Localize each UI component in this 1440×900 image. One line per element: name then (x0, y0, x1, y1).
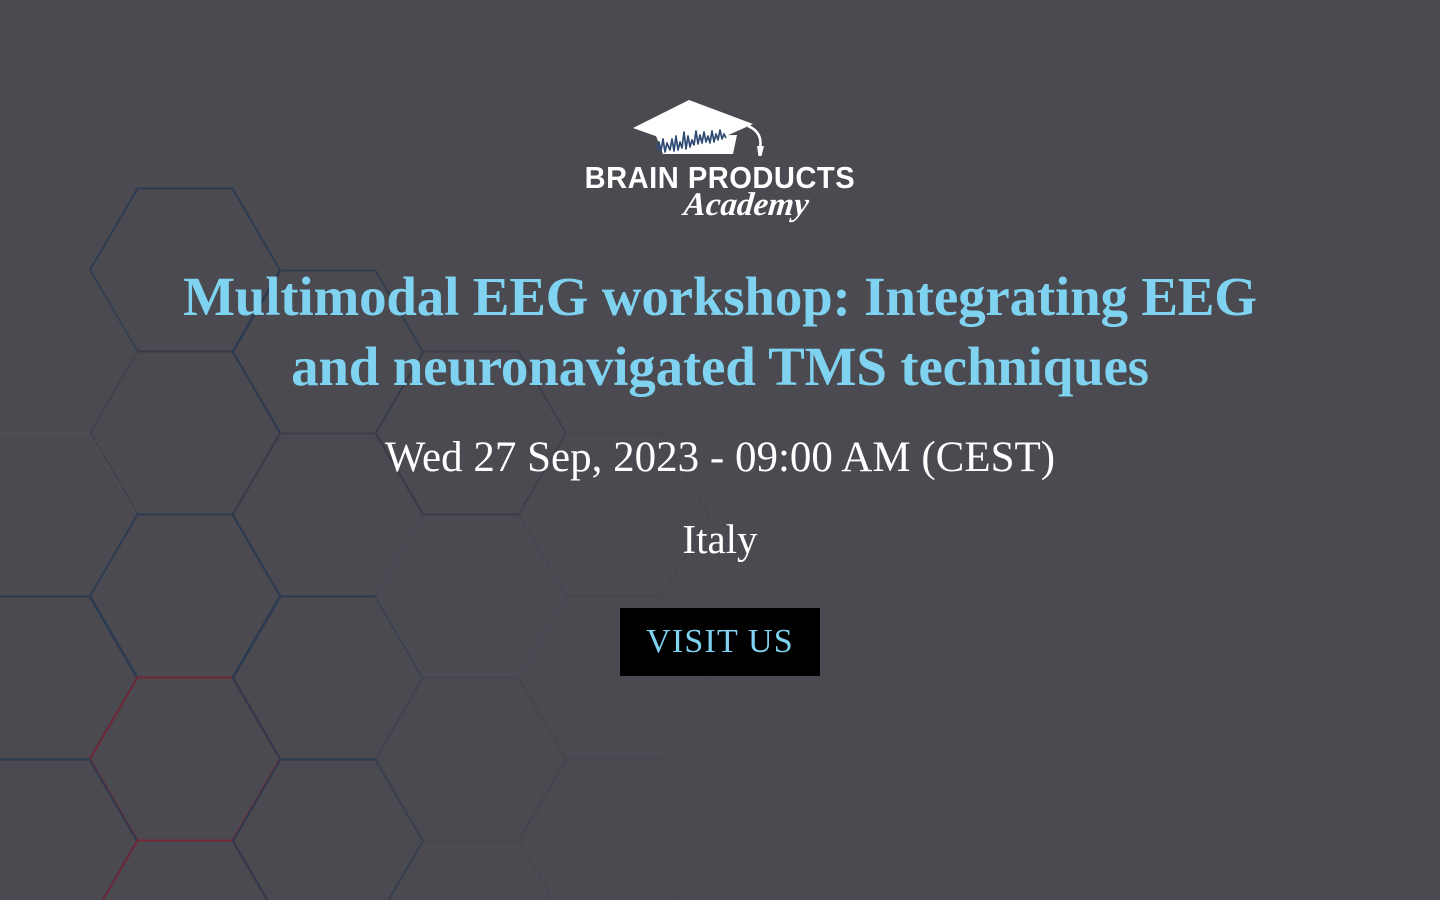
event-location: Italy (682, 519, 757, 560)
hexagon-cell (90, 678, 280, 841)
hexagon-cell (376, 678, 566, 841)
brand-logo: BRAIN PRODUCTS Academy (0, 92, 1440, 222)
graduation-cap-eeg-icon (625, 92, 815, 164)
logo-script-academy: Academy (682, 189, 810, 222)
page-title: Multimodal EEG workshop: Integrating EEG… (180, 262, 1260, 403)
hexagon-cell (233, 760, 423, 900)
event-date: Wed 27 Sep, 2023 - 09:00 AM (CEST) (385, 436, 1055, 479)
event-content: Multimodal EEG workshop: Integrating EEG… (0, 262, 1440, 676)
visit-us-button[interactable]: VISIT US (620, 608, 820, 676)
hexagon-cell (519, 760, 709, 900)
hexagon-cell (90, 841, 280, 900)
hexagon-cell (0, 760, 137, 900)
event-banner: BRAIN PRODUCTS Academy Multimodal EEG wo… (0, 0, 1440, 900)
hexagon-cell (376, 841, 566, 900)
